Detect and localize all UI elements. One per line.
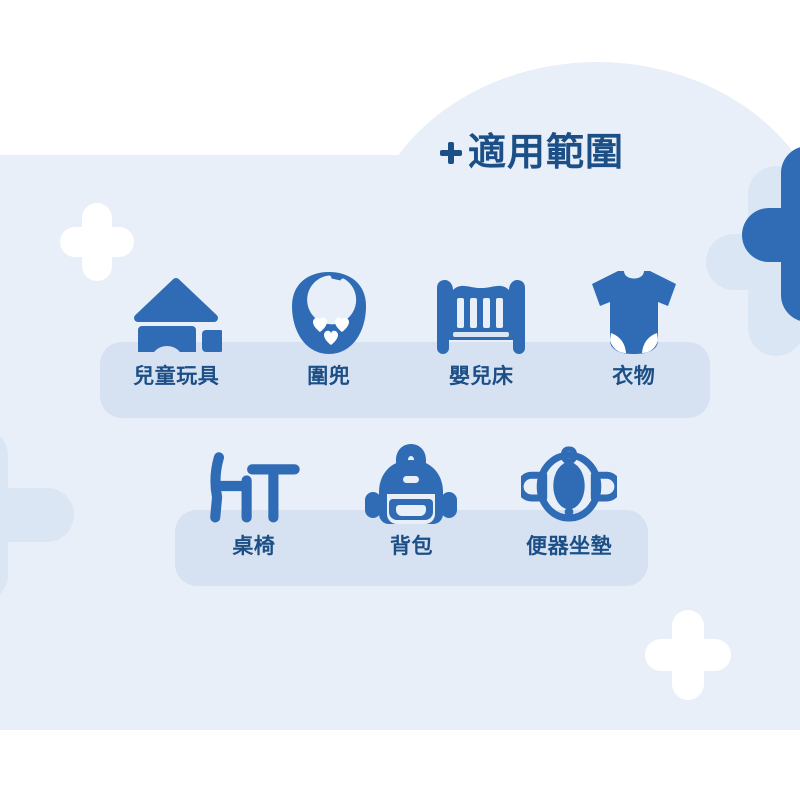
toy-blocks-icon	[128, 270, 224, 356]
table-chair-icon	[206, 440, 302, 526]
plus-bar-vertical	[0, 428, 8, 602]
plus-decor-blue-right	[742, 146, 800, 322]
baby-bib-icon	[281, 270, 377, 356]
category-label: 嬰兒床	[449, 366, 514, 387]
category-label: 便器坐墊	[526, 536, 612, 557]
baby-crib-icon	[433, 270, 529, 356]
category-item-toys[interactable]: 兒童玩具	[106, 270, 246, 387]
category-label: 圍兜	[307, 366, 350, 387]
backpack-icon	[363, 440, 459, 526]
category-row-1: 兒童玩具 圍兜	[100, 270, 710, 387]
category-item-crib[interactable]: 嬰兒床	[411, 270, 551, 387]
plus-decor-light-left	[0, 428, 74, 602]
plus-icon	[440, 142, 462, 164]
category-item-toilet-seat[interactable]: 便器坐墊	[499, 440, 639, 557]
category-label: 兒童玩具	[133, 366, 219, 387]
category-item-backpack[interactable]: 背包	[341, 440, 481, 557]
toilet-seat-icon	[521, 440, 617, 526]
plus-bar-horizontal	[0, 488, 74, 542]
section-heading: 適用範圍	[440, 134, 624, 172]
page-title: 適用範圍	[468, 134, 624, 172]
baby-onesie-icon	[586, 270, 682, 356]
category-label: 衣物	[612, 366, 655, 387]
category-item-clothing[interactable]: 衣物	[564, 270, 704, 387]
category-label: 桌椅	[232, 536, 275, 557]
scope-of-application-graphic: 適用範圍 兒童玩具	[0, 0, 800, 800]
category-label: 背包	[390, 536, 433, 557]
plus-decor-white-bottom-right	[645, 610, 731, 700]
plus-bar-vertical	[781, 146, 800, 322]
category-item-bib[interactable]: 圍兜	[259, 270, 399, 387]
category-row-2: 桌椅 背包	[175, 440, 648, 557]
plus-bar-vertical	[672, 610, 704, 700]
category-item-table-chair[interactable]: 桌椅	[184, 440, 324, 557]
